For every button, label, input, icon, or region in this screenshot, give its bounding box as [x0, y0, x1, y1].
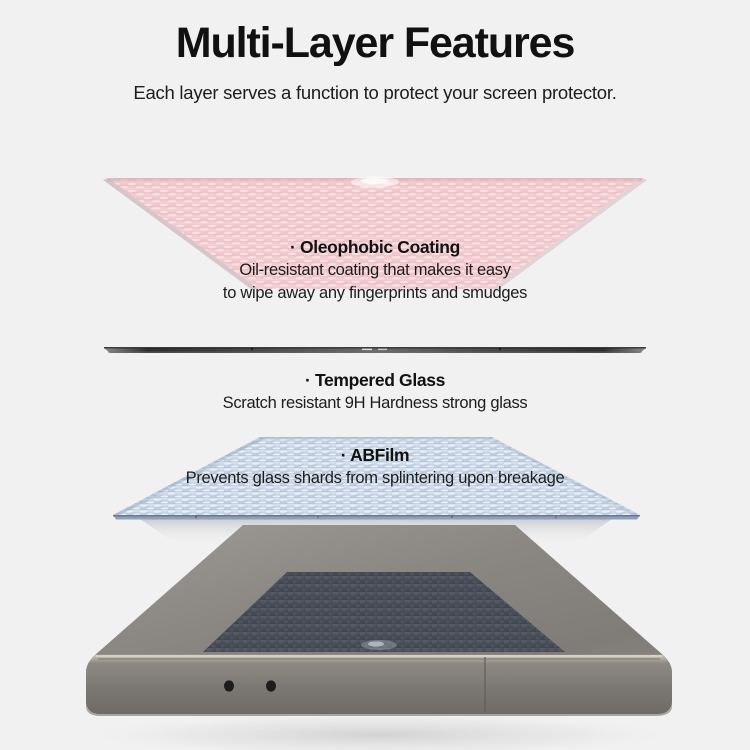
oleophobic-layer-shape: [103, 177, 647, 290]
page-subtitle: Each layer serves a function to protect …: [0, 66, 750, 104]
page-title: Multi-Layer Features: [0, 0, 750, 66]
tempered-glass-shape: [104, 347, 646, 353]
header: Multi-Layer Features Each layer serves a…: [0, 0, 750, 105]
screen-protector-infographic: Multi-Layer Features Each layer serves a…: [0, 0, 750, 750]
smartphone-illustration: [78, 525, 678, 750]
layer-diagram: [0, 0, 750, 750]
